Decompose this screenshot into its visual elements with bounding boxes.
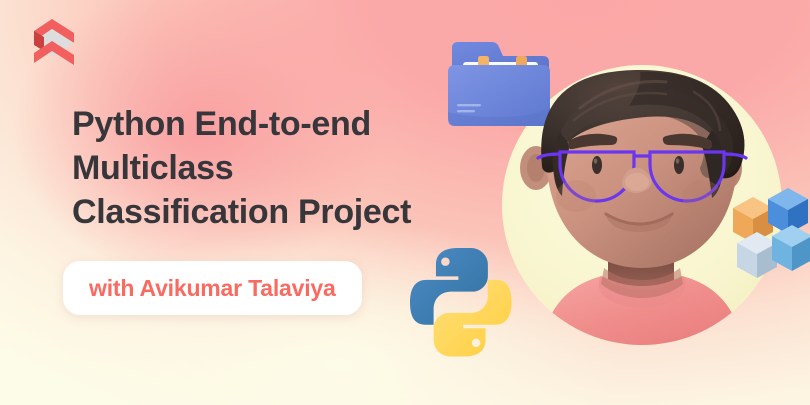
python-logo bbox=[410, 248, 511, 357]
headline-line-3: Classification Project bbox=[72, 191, 472, 235]
author-badge[interactable]: with Avikumar Talaviya bbox=[63, 261, 362, 315]
author-label: with Avikumar Talaviya bbox=[89, 275, 336, 302]
headline-line-2: Multiclass bbox=[72, 147, 472, 191]
page-title: Python End-to-end Multiclass Classificat… bbox=[72, 103, 472, 235]
course-banner: Python End-to-end Multiclass Classificat… bbox=[0, 0, 810, 405]
headline-line-1: Python End-to-end bbox=[72, 103, 472, 147]
brand-logo[interactable] bbox=[22, 17, 80, 69]
